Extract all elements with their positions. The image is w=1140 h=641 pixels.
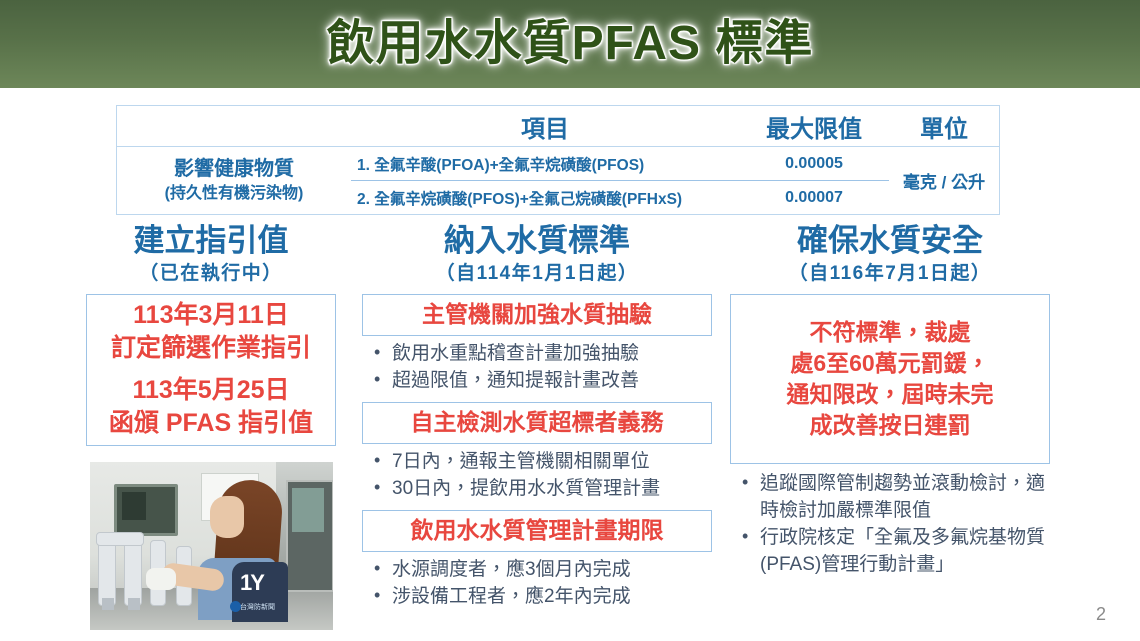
table-cell-unit: 毫克 / 公升 (889, 147, 999, 214)
middle-section-heading-box-3: 飲用水水質管理計畫期限 (362, 510, 712, 552)
column-water-quality-standard: 納入水質標準 （自114年1月1日起） 主管機關加強水質抽驗 飲用水重點稽查計畫… (362, 222, 712, 610)
right-box-line: 通知限改，屆時未完 (733, 379, 1047, 410)
left-column-title: 建立指引值 (86, 222, 336, 260)
table-body: 影響健康物質 (持久性有機污染物) 1. 全氟辛酸(PFOA)+全氟辛烷磺酸(P… (117, 147, 999, 214)
row-limit-value: 0.00005 (739, 155, 889, 173)
category-sub-label: (持久性有機污染物) (165, 182, 304, 206)
list-item: 涉設備工程者，應2年內完成 (372, 583, 712, 610)
list-item: 超過限值，通知提報計畫改善 (372, 367, 712, 394)
row-item-label: 1. 全氟辛酸(PFOA)+全氟辛烷磺酸(PFOS) (351, 153, 739, 175)
vest-logo: 1Y (240, 570, 284, 598)
table-row: 2. 全氟辛烷磺酸(PFOS)+全氟己烷磺酸(PFHxS) 0.00007 (351, 181, 889, 214)
list-item: 7日內，通報主管機關相關單位 (372, 448, 712, 475)
left-column-subtitle: （已在執行中） (86, 260, 336, 288)
left-box-line: 113年5月25日 (89, 374, 333, 407)
middle-bullet-list-3: 水源調度者，應3個月內完成 涉設備工程者，應2年內完成 (362, 556, 712, 610)
table-cell-category: 影響健康物質 (持久性有機污染物) (117, 147, 351, 214)
right-bullet-list: 追蹤國際管制趨勢並滾動檢討，適時檢討加嚴標準限值 行政院核定「全氟及多氟烷基物質… (730, 470, 1050, 578)
table-header-limit: 最大限值 (739, 109, 889, 144)
section-heading: 飲用水水質管理計畫期限 (365, 515, 709, 546)
list-item: 飲用水重點稽查計畫加強抽驗 (372, 340, 712, 367)
section-heading: 自主檢測水質超標者義務 (365, 407, 709, 438)
right-column-subtitle: （自116年7月1日起） (730, 260, 1050, 288)
slide-banner: 飲用水水質PFAS 標準 (0, 0, 1140, 88)
right-column-title: 確保水質安全 (730, 222, 1050, 260)
section-heading: 主管機關加強水質抽驗 (365, 299, 709, 330)
table-header-unit: 單位 (889, 109, 999, 144)
middle-section-heading-box-1: 主管機關加強水質抽驗 (362, 294, 712, 336)
table-header-row: 項目 最大限值 單位 (117, 106, 999, 147)
left-highlight-box: 113年3月11日 訂定篩選作業指引 113年5月25日 函頒 PFAS 指引值 (86, 294, 336, 446)
middle-column-title: 納入水質標準 (362, 222, 712, 260)
list-item: 追蹤國際管制趨勢並滾動檢討，適時檢討加嚴標準限值 (740, 470, 1050, 524)
right-highlight-box: 不符標準，裁處 處6至60萬元罰鍰， 通知限改，屆時未完 成改善按日連罰 (730, 294, 1050, 464)
left-box-line: 訂定篩選作業指引 (89, 332, 333, 365)
list-item: 30日內，提飲用水水質管理計畫 (372, 475, 712, 502)
photo-watermark-label: 台灣防新聞 (240, 602, 275, 612)
pfas-standard-table: 項目 最大限值 單位 影響健康物質 (持久性有機污染物) 1. 全氟辛酸(PFO… (116, 105, 1000, 215)
right-box-line: 成改善按日連罰 (733, 410, 1047, 441)
middle-bullet-list-2: 7日內，通報主管機關相關單位 30日內，提飲用水水質管理計畫 (362, 448, 712, 502)
row-limit-value: 0.00007 (739, 189, 889, 207)
right-box-line: 處6至60萬元罰鍰， (733, 348, 1047, 379)
category-main-label: 影響健康物質 (174, 156, 294, 182)
list-item: 水源調度者，應3個月內完成 (372, 556, 712, 583)
middle-section-heading-box-2: 自主檢測水質超標者義務 (362, 402, 712, 444)
left-box-line: 113年3月11日 (89, 299, 333, 332)
middle-bullet-list-1: 飲用水重點稽查計畫加強抽驗 超過限值，通知提報計畫改善 (362, 340, 712, 394)
field-inspection-photo: 1Y 台灣防新聞 (90, 462, 333, 630)
table-rows: 1. 全氟辛酸(PFOA)+全氟辛烷磺酸(PFOS) 0.00005 2. 全氟… (351, 147, 889, 214)
list-item: 行政院核定「全氟及多氟烷基物質(PFAS)管理行動計畫」 (740, 524, 1050, 578)
column-ensure-water-safety: 確保水質安全 （自116年7月1日起） 不符標準，裁處 處6至60萬元罰鍰， 通… (730, 222, 1050, 578)
table-row: 1. 全氟辛酸(PFOA)+全氟辛烷磺酸(PFOS) 0.00005 (351, 147, 889, 181)
column-establish-guideline: 建立指引值 （已在執行中） 113年3月11日 訂定篩選作業指引 113年5月2… (86, 222, 336, 446)
table-header-item: 項目 (351, 109, 739, 144)
left-box-line: 函頒 PFAS 指引值 (89, 407, 333, 440)
page-title: 飲用水水質PFAS 標準 (0, 8, 1140, 80)
page-number: 2 (1096, 604, 1106, 625)
right-box-line: 不符標準，裁處 (733, 317, 1047, 348)
row-item-label: 2. 全氟辛烷磺酸(PFOS)+全氟己烷磺酸(PFHxS) (351, 187, 739, 209)
middle-column-subtitle: （自114年1月1日起） (362, 260, 712, 288)
